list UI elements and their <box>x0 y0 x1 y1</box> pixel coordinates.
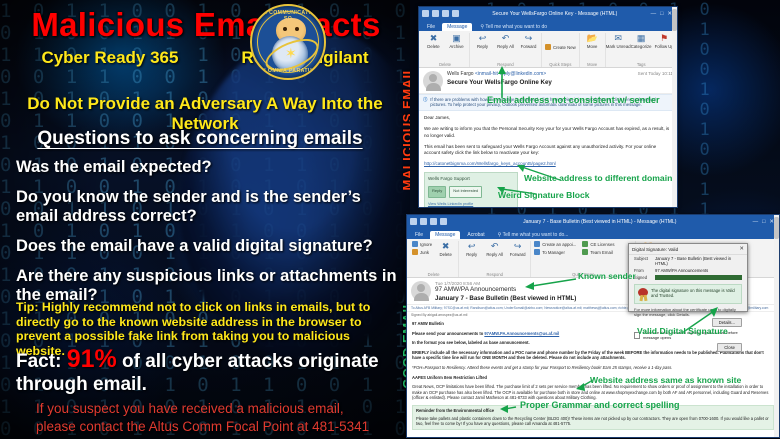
email-date: Sent Today 10:11 <box>638 71 673 91</box>
forward-label: Forward <box>510 252 526 257</box>
delete-x-icon: ✖ <box>430 33 438 44</box>
scrollbar-thumb[interactable] <box>672 9 677 31</box>
title-bar: Secure Your WellsFargo Online Key - Mess… <box>419 7 677 20</box>
follow-up-label: Follow Up <box>655 44 674 49</box>
create-new-label: Create New <box>553 45 576 50</box>
customize-qat-icon[interactable] <box>440 218 447 225</box>
reply-all-icon: ↶ <box>502 33 510 44</box>
ribbon-group-delete: Ignore Junk ✖Delete Delete <box>409 241 459 277</box>
ribbon-group-move: 📂Move Move <box>580 33 606 67</box>
certificate-seal-icon <box>638 288 648 300</box>
tell-me-label: Tell me what you want to do... <box>503 232 569 238</box>
forward-label: Forward <box>521 44 537 49</box>
mark-unread-icon: ✉ <box>614 33 622 44</box>
group-label-delete: Delete <box>428 272 440 277</box>
annotation-address-not-consistent: Email address not consistent w/ sender <box>487 95 660 105</box>
flag-icon <box>545 44 551 50</box>
question-item: Do you know the sender and is the sender… <box>16 188 404 226</box>
create-new-quickstep[interactable]: Create New <box>545 44 576 50</box>
subtitle-row: Cyber Ready 365 Remain Vigilant <box>10 48 400 68</box>
questions-heading: Questions to ask concerning emails <box>0 128 400 150</box>
reply-icon: ↩ <box>479 33 487 44</box>
star-icon: ✶ <box>285 46 297 60</box>
fact-percent: 91% <box>67 345 117 373</box>
team-email-quickstep[interactable]: Team Email <box>582 249 614 255</box>
avatar <box>423 71 443 91</box>
body-title: 97 AMW Bulletin <box>412 321 444 326</box>
annotation-website-different-domain: Website address to different domain <box>524 173 672 183</box>
signature-reply-button[interactable]: Reply <box>428 186 446 198</box>
subject-label: Subject <box>634 256 652 266</box>
sender-name: Wells Fargo <box>447 71 474 77</box>
categorize-button[interactable]: ▦Categorize <box>632 33 651 49</box>
team-email-label: Team Email <box>590 250 612 255</box>
tell-me-box[interactable]: ⚲ Tell me what you want to do <box>474 23 552 31</box>
tab-acrobat[interactable]: Acrobat <box>462 231 489 239</box>
group-label-move: Move <box>587 62 597 67</box>
fact-text: Fact: 91% of all cyber attacks originate… <box>16 348 396 396</box>
tab-message[interactable]: Message <box>442 23 472 31</box>
reply-button[interactable]: ↩Reply <box>462 241 481 257</box>
reply-all-icon: ↶ <box>491 241 499 252</box>
junk-label: Junk <box>420 250 429 255</box>
delete-x-icon: ✖ <box>442 241 450 252</box>
undo-icon[interactable] <box>420 218 427 225</box>
body-line6-title: Reminder from the Environmental office <box>416 408 494 413</box>
junk-button[interactable]: Junk <box>412 249 432 255</box>
signed-label: Signed <box>634 275 652 280</box>
body-paragraph-1: We are writing to inform you that the Pe… <box>424 126 672 139</box>
announcements-email-link[interactable]: 97AMW.PA.Announcements@us.af.mil <box>484 331 559 336</box>
window-title: January 7 - Base Bulletin (Best viewed i… <box>450 219 750 225</box>
body-line4: *FOH=Passport to Resiliency. Attend thes… <box>412 365 672 370</box>
email-header: Wells Fargo <inmail-hit-reply@linkedin.c… <box>419 68 677 94</box>
subject-value: January 7 - Base Bulletin (Best viewed i… <box>655 256 742 266</box>
ribbon-group-quick-steps: Create New Quick Steps <box>542 33 580 67</box>
forward-icon: ↪ <box>514 241 522 252</box>
to-manager-quickstep[interactable]: To Manager <box>534 249 576 255</box>
ce-licenses-quickstep[interactable]: CE Licenses <box>582 241 614 247</box>
archive-box-icon: ▣ <box>452 33 461 44</box>
group-label-tags: Tags <box>637 62 646 67</box>
forward-icon: ↪ <box>525 33 533 44</box>
maximize-icon[interactable]: □ <box>762 219 765 225</box>
reply-label: Reply <box>477 44 488 49</box>
ignore-label: Ignore <box>420 242 432 247</box>
signature-profile-link[interactable]: View Wells LinkedIn profile <box>428 201 514 208</box>
window-title: Secure Your WellsFargo Online Key - Mess… <box>462 11 648 17</box>
fact-prefix: Fact: <box>16 351 61 372</box>
reply-all-button[interactable]: ↶Reply All <box>496 33 515 49</box>
redo-icon[interactable] <box>442 10 449 17</box>
close-icon[interactable]: ✕ <box>739 246 744 252</box>
ignore-button[interactable]: Ignore <box>412 241 432 247</box>
tab-file[interactable]: File <box>422 23 440 31</box>
from-value: 97 AMW/PA Announcements <box>655 268 742 273</box>
badge-bottom-text: IN OMNIA PARATUS <box>252 68 324 74</box>
contact-text: If you suspect you have received a malic… <box>36 400 386 436</box>
create-appointment-quickstep[interactable]: Create an appoi... <box>534 241 576 247</box>
digital-signature-dialog[interactable]: Digital Signature: Valid ✕ Subject Janua… <box>628 243 748 312</box>
ce-licenses-label: CE Licenses <box>590 242 614 247</box>
window-buttons[interactable]: — □ ✕ <box>651 11 674 17</box>
signature-name: Wells Fargo Support <box>428 176 514 183</box>
tell-me-box[interactable]: ⚲ Tell me what you want to do... <box>492 231 574 239</box>
body-paragraph-2: This email has been sent to safeguard yo… <box>424 144 672 157</box>
body-greeting: Dear James, <box>424 115 672 122</box>
archive-label: Archive <box>449 44 463 49</box>
ribbon-tabs[interactable]: File Message Acrobat ⚲ Tell me what you … <box>407 228 779 239</box>
follow-up-button[interactable]: ⚑Follow Up <box>655 33 674 49</box>
group-label-respond: Respond <box>486 272 502 277</box>
window-buttons[interactable]: — □ ✕ <box>753 219 776 225</box>
undo-icon[interactable] <box>432 10 439 17</box>
valid-message: The digital signature on this message is… <box>651 288 738 300</box>
body-line2: In the format you see below, labeled as … <box>412 340 530 345</box>
avatar <box>411 281 431 301</box>
slide-root: 1 0 1 1 0 0 1 0 1 1 0 1 0 0 1 0 1 0 0 1 … <box>0 0 780 439</box>
move-button[interactable]: 📂Move <box>583 33 602 49</box>
license-icon <box>582 241 588 247</box>
minimize-icon[interactable]: — <box>753 219 759 225</box>
scrollbar[interactable] <box>672 7 677 207</box>
info-icon: ⓘ <box>423 97 427 108</box>
follow-up-flag-icon: ⚑ <box>660 33 668 44</box>
ignore-icon <box>412 241 418 247</box>
annotation-weird-signature: Weird Signature Block <box>498 190 590 200</box>
ribbon-group-respond: ↩Reply ↶Reply All ↪Forward Respond <box>470 33 542 67</box>
forward-button[interactable]: ↪Forward <box>508 241 527 257</box>
create-appointment-label: Create an appoi... <box>542 242 576 247</box>
forward-button[interactable]: ↪Forward <box>519 33 538 49</box>
dialog-title-bar: Digital Signature: Valid ✕ <box>629 244 747 255</box>
signed-value: @us.af.mil <box>655 275 742 280</box>
delete-label: Delete <box>439 252 451 257</box>
scrollbar[interactable] <box>774 215 779 437</box>
body-line1-prefix: Please send your announcements to <box>412 331 484 336</box>
delete-button[interactable]: ✖Delete <box>424 33 443 49</box>
reply-all-button[interactable]: ↶Reply All <box>485 241 504 257</box>
subtitle-cyber-ready: Cyber Ready 365 <box>41 48 178 68</box>
left-panel: 1 0 1 1 0 0 1 0 1 1 0 1 0 0 1 0 1 0 0 1 … <box>0 0 410 439</box>
annotation-known-sender: Known sender <box>578 271 636 281</box>
reply-button[interactable]: ↩Reply <box>473 33 492 49</box>
categorize-label: Categorize <box>631 44 652 49</box>
manager-icon <box>534 249 540 255</box>
delete-label: Delete <box>427 44 439 49</box>
junk-icon <box>412 249 418 255</box>
from-label: From <box>634 268 652 273</box>
dialog-from-row: From 97 AMW/PA Announcements <box>629 267 747 274</box>
annotation-website-same-site: Website address same as known site <box>590 375 741 385</box>
delete-button[interactable]: ✖Delete <box>436 241 455 257</box>
team-email-icon <box>582 249 588 255</box>
dialog-signed-row: Signed @us.af.mil <box>629 274 747 281</box>
dialog-subject-row: Subject January 7 - Base Bulletin (Best … <box>629 255 747 267</box>
squadron-badge: 97TH COMMUNICATIONS SQ ✶ IN OMNIA PARATU… <box>250 4 326 80</box>
dialog-title: Digital Signature: Valid <box>632 247 739 252</box>
ribbon[interactable]: ✖Delete ▣Archive Delete ↩Reply ↶Reply Al… <box>419 31 677 68</box>
annotation-valid-digital-signature: Valid Digital Signature <box>637 326 728 336</box>
dialog-valid-banner: The digital signature on this message is… <box>634 284 742 304</box>
ribbon-group-tags: ✉Mark Unread ▦Categorize ⚑Follow Up Tags <box>606 33 678 67</box>
email-subject: Secure Your WellsFargo Online Key <box>447 79 634 86</box>
reply-icon: ↩ <box>468 241 476 252</box>
save-icon[interactable] <box>410 218 417 225</box>
arrow-to-known-sender <box>518 276 580 292</box>
annotation-proper-grammar: Proper Grammar and correct spelling <box>520 400 680 410</box>
to-manager-label: To Manager <box>542 250 565 255</box>
redo-icon[interactable] <box>430 218 437 225</box>
sender-line: Wells Fargo <inmail-hit-reply@linkedin.c… <box>447 71 634 77</box>
ribbon-group-respond: ↩Reply ↶Reply All ↪Forward Respond <box>459 241 531 277</box>
maximize-icon[interactable]: □ <box>660 11 663 17</box>
reply-all-label: Reply All <box>486 252 503 257</box>
question-item: Does the email have a valid digital sign… <box>16 237 404 256</box>
group-label-delete: Delete <box>439 62 451 67</box>
ribbon-tabs[interactable]: File Message ⚲ Tell me what you want to … <box>419 20 677 31</box>
archive-button[interactable]: ▣Archive <box>447 33 466 49</box>
mark-unread-label: Mark Unread <box>606 44 631 49</box>
move-label: Move <box>587 44 598 49</box>
move-folder-icon: 📂 <box>587 33 598 44</box>
save-icon[interactable] <box>422 10 429 17</box>
body-line5-title: AAFES Uniform Item Restriction Lifted <box>412 375 487 380</box>
tell-me-label: Tell me what you want to do <box>485 24 547 30</box>
group-label-quick-steps: Quick Steps <box>549 62 571 67</box>
close-button[interactable]: Close <box>717 343 742 352</box>
scrollbar-thumb[interactable] <box>774 217 779 239</box>
customize-qat-icon[interactable] <box>452 10 459 17</box>
questions-list: Was the email expected? Do you know the … <box>16 158 404 316</box>
signature-not-interested-button[interactable]: Not interested <box>449 186 482 198</box>
minimize-icon[interactable]: — <box>651 11 657 17</box>
tab-file[interactable]: File <box>410 231 428 239</box>
question-item: Was the email expected? <box>16 158 404 177</box>
categorize-icon: ▦ <box>637 33 646 44</box>
reply-all-label: Reply All <box>497 44 514 49</box>
tab-message[interactable]: Message <box>430 231 460 239</box>
mark-unread-button[interactable]: ✉Mark Unread <box>609 33 628 49</box>
page-title: Malicious Email Facts <box>8 6 404 44</box>
arrow-to-green-box <box>498 403 520 415</box>
reply-label: Reply <box>466 252 477 257</box>
title-bar: January 7 - Base Bulletin (Best viewed i… <box>407 215 779 228</box>
calendar-icon <box>534 241 540 247</box>
body-line6: Please take pallets and plastic containe… <box>416 416 770 427</box>
ribbon-group-delete: ✖Delete ▣Archive Delete <box>421 33 470 67</box>
